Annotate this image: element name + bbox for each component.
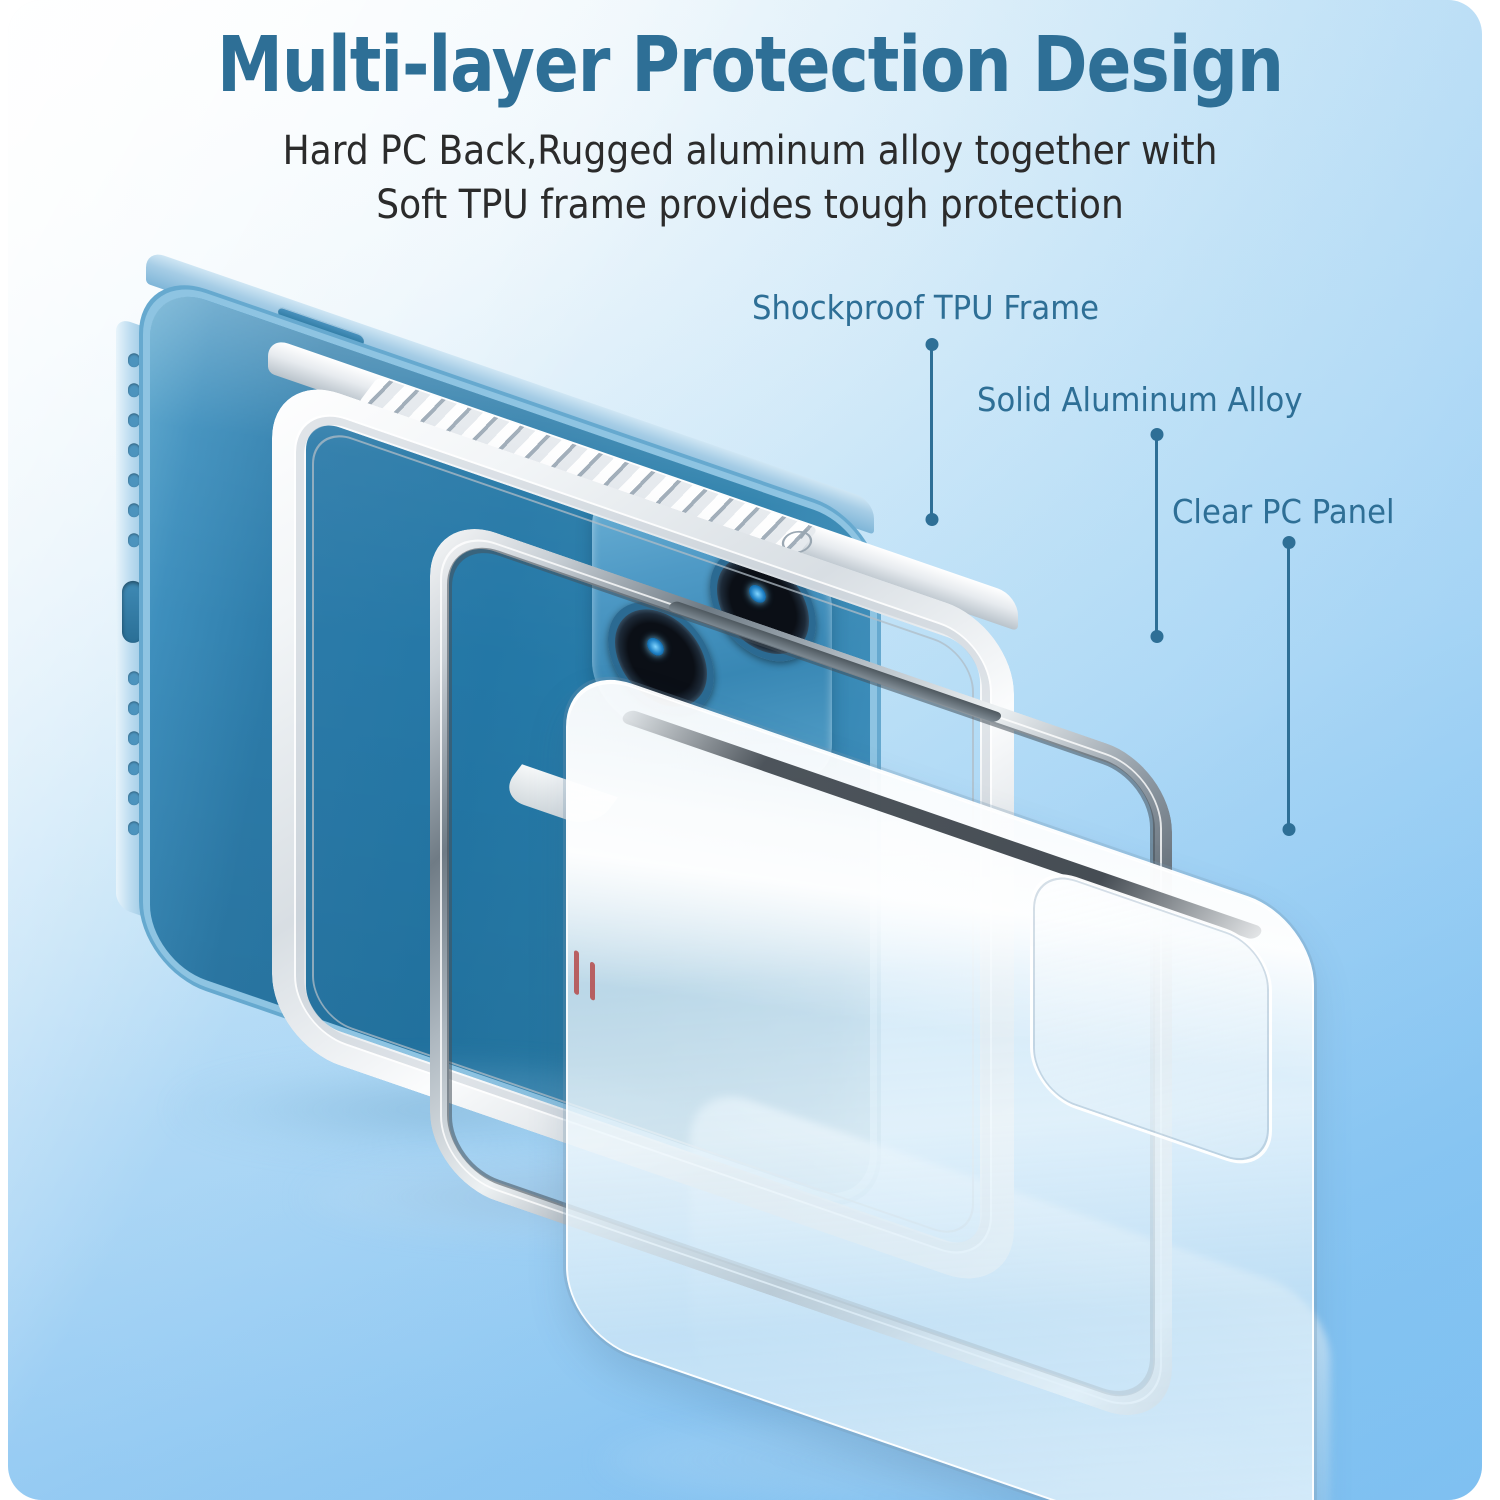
callout-label-aluminum-alloy: Solid Aluminum Alloy [977, 380, 1302, 419]
subtitle-line-1: Hard PC Back,Rugged aluminum alloy toget… [75, 124, 1425, 178]
callout-label-clear-pc-panel: Clear PC Panel [1172, 492, 1395, 531]
leader-line-clear-pc-panel [1287, 542, 1290, 830]
leader-line-aluminum-alloy [1155, 434, 1158, 637]
page-title: Multi-layer Protection Design [105, 26, 1395, 106]
leader-line-tpu-frame [930, 344, 933, 520]
pc-panel-accent-stripe [590, 961, 595, 1001]
header: Multi-layer Protection Design Hard PC Ba… [0, 26, 1500, 233]
lightning-port-icon [122, 581, 144, 643]
callout-label-tpu-frame: Shockproof TPU Frame [752, 288, 1099, 327]
subtitle-line-2: Soft TPU frame provides tough protection [75, 178, 1425, 232]
phone-bottom-edge [116, 317, 152, 919]
pc-panel-accent-stripe [574, 950, 579, 996]
product-infographic: Multi-layer Protection Design Hard PC Ba… [0, 0, 1500, 1500]
subtitle-block: Hard PC Back,Rugged aluminum alloy toget… [0, 124, 1500, 233]
